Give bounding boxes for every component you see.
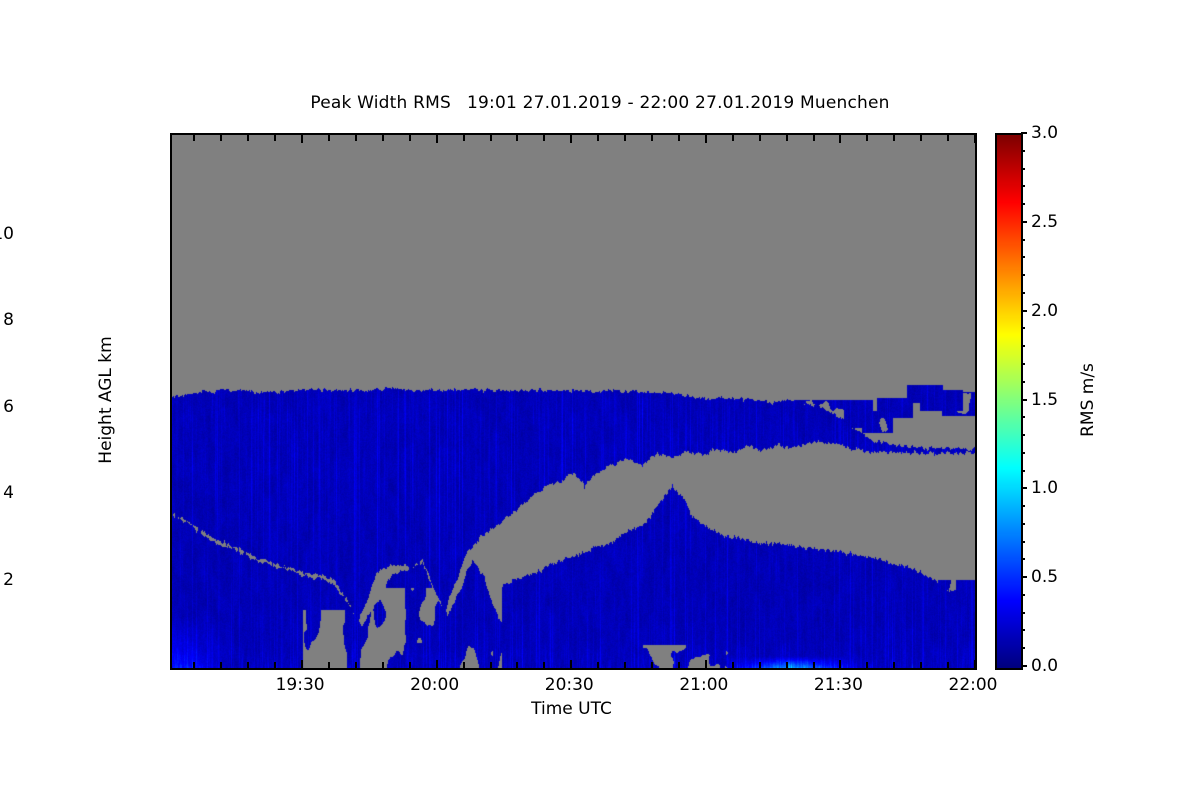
x-axis-minor-tick-top [893, 135, 895, 141]
x-axis-tick-label: 19:30 [276, 675, 325, 695]
y-axis-major-tick-right [975, 321, 977, 323]
y-axis-tick-label: 8 [3, 310, 14, 330]
colorbar-minor-tick [1021, 647, 1025, 649]
colorbar-minor-tick [1021, 558, 1025, 560]
x-axis-tick-label: 22:00 [949, 675, 998, 695]
y-axis-major-tick-right [975, 408, 977, 410]
colorbar-minor-tick [1021, 452, 1025, 454]
x-axis-minor-tick-top [516, 135, 518, 141]
x-axis-minor-tick [355, 662, 357, 668]
x-axis-minor-tick-top [409, 135, 411, 141]
y-axis-minor-tick-right [975, 624, 977, 626]
x-axis-minor-tick [274, 662, 276, 668]
x-axis-major-tick [974, 660, 976, 668]
colorbar-minor-tick [1021, 541, 1025, 543]
y-axis-tick-label: 6 [3, 397, 14, 417]
y-axis-minor-tick-right [975, 148, 977, 150]
colorbar-minor-tick [1021, 292, 1025, 294]
x-axis-minor-tick [328, 662, 330, 668]
x-axis-minor-tick [651, 662, 653, 668]
x-axis-minor-tick [409, 662, 411, 668]
x-axis-major-tick-top [974, 135, 976, 143]
colorbar-major-tick [1021, 399, 1027, 401]
x-axis-major-tick [436, 660, 438, 668]
title-time-range: 19:01 27.01.2019 - 22:00 27.01.2019 [467, 93, 794, 113]
x-axis-minor-tick-top [490, 135, 492, 141]
x-axis-minor-tick-top [355, 135, 357, 141]
y-axis-minor-tick-right [975, 364, 977, 366]
colorbar-minor-tick [1021, 363, 1025, 365]
x-axis-major-tick [301, 660, 303, 668]
x-axis-minor-tick-top [247, 135, 249, 141]
x-axis-minor-tick [624, 662, 626, 668]
colorbar-minor-tick [1021, 434, 1025, 436]
x-axis-minor-tick [947, 662, 949, 668]
chart-figure: Peak Width RMS19:01 27.01.2019 - 22:00 2… [0, 0, 1200, 800]
y-axis-major-tick-right [975, 494, 977, 496]
y-axis-minor-tick [170, 191, 172, 193]
x-axis-tick-label: 21:30 [814, 675, 863, 695]
y-axis-tick-label: 2 [3, 570, 14, 590]
x-axis-minor-tick-top [678, 135, 680, 141]
x-axis-minor-tick-top [759, 135, 761, 141]
colorbar-tick-label: 3.0 [1031, 123, 1058, 143]
colorbar-tick-label: 1.0 [1031, 478, 1058, 498]
colorbar-major-tick [1021, 487, 1027, 489]
y-axis-major-tick [170, 408, 172, 410]
x-axis-minor-tick [463, 662, 465, 668]
colorbar-minor-tick [1021, 629, 1025, 631]
x-axis-minor-tick [866, 662, 868, 668]
y-axis-minor-tick [170, 451, 172, 453]
y-axis-minor-tick [170, 624, 172, 626]
y-axis-minor-tick-right [975, 537, 977, 539]
x-axis-minor-tick [597, 662, 599, 668]
x-axis-major-tick-top [436, 135, 438, 143]
y-axis-minor-tick [170, 148, 172, 150]
x-axis-major-tick-top [301, 135, 303, 143]
x-axis-minor-tick-top [732, 135, 734, 141]
y-axis-major-tick [170, 321, 172, 323]
x-axis-major-tick-top [705, 135, 707, 143]
x-axis-minor-tick-top [543, 135, 545, 141]
title-station: Muenchen [800, 93, 890, 113]
x-axis-minor-tick-top [193, 135, 195, 141]
x-axis-major-tick-top [839, 135, 841, 143]
colorbar-title: RMS m/s [1078, 363, 1098, 437]
x-axis-minor-tick [490, 662, 492, 668]
colorbar-minor-tick [1021, 523, 1025, 525]
colorbar-minor-tick [1021, 239, 1025, 241]
x-axis-major-tick [839, 660, 841, 668]
x-axis-minor-tick [786, 662, 788, 668]
x-axis-minor-tick-top [920, 135, 922, 141]
y-axis-tick-label: 10 [0, 224, 14, 244]
colorbar-tick-label: 0.5 [1031, 567, 1058, 587]
x-axis-minor-tick-top [651, 135, 653, 141]
colorbar-tick-label: 2.0 [1031, 301, 1058, 321]
x-axis-tick-label: 21:00 [679, 675, 728, 695]
colorbar-minor-tick [1021, 203, 1025, 205]
x-axis-minor-tick-top [866, 135, 868, 141]
x-axis-minor-tick-top [624, 135, 626, 141]
x-axis-minor-tick [516, 662, 518, 668]
y-axis-major-tick-right [975, 581, 977, 583]
colorbar-major-tick [1021, 665, 1027, 667]
x-axis-minor-tick [382, 662, 384, 668]
colorbar-minor-tick [1021, 256, 1025, 258]
y-axis-major-tick [170, 581, 172, 583]
x-axis-tick-label: 20:30 [545, 675, 594, 695]
y-axis-minor-tick [170, 364, 172, 366]
x-axis-minor-tick [920, 662, 922, 668]
x-axis-minor-tick [759, 662, 761, 668]
x-axis-minor-tick [247, 662, 249, 668]
x-axis-major-tick [705, 660, 707, 668]
heatmap-canvas [172, 135, 975, 668]
colorbar-minor-tick [1021, 185, 1025, 187]
colorbar-minor-tick [1021, 594, 1025, 596]
colorbar-minor-tick [1021, 381, 1025, 383]
x-axis-minor-tick [893, 662, 895, 668]
colorbar-minor-tick [1021, 274, 1025, 276]
x-axis-minor-tick [543, 662, 545, 668]
y-axis-major-tick [170, 494, 172, 496]
y-axis-major-tick-right [975, 235, 977, 237]
colorbar-gradient [997, 135, 1021, 668]
x-axis-minor-tick-top [463, 135, 465, 141]
y-axis-minor-tick-right [975, 451, 977, 453]
x-axis-minor-tick-top [220, 135, 222, 141]
colorbar-tick-label: 0.0 [1031, 656, 1058, 676]
x-axis-minor-tick [732, 662, 734, 668]
x-axis-minor-tick-top [382, 135, 384, 141]
colorbar-minor-tick [1021, 327, 1025, 329]
colorbar-tick-label: 2.5 [1031, 212, 1058, 232]
y-axis-minor-tick [170, 537, 172, 539]
colorbar [995, 133, 1023, 670]
colorbar-minor-tick [1021, 612, 1025, 614]
x-axis-minor-tick-top [786, 135, 788, 141]
x-axis-minor-tick [813, 662, 815, 668]
y-axis-minor-tick [170, 278, 172, 280]
colorbar-major-tick [1021, 221, 1027, 223]
colorbar-tick-label: 1.5 [1031, 390, 1058, 410]
x-axis-minor-tick-top [813, 135, 815, 141]
x-axis-major-tick [570, 660, 572, 668]
colorbar-minor-tick [1021, 168, 1025, 170]
x-axis-major-tick-top [570, 135, 572, 143]
title-variable: Peak Width RMS [310, 93, 451, 113]
x-axis-title: Time UTC [0, 699, 1143, 719]
x-axis-tick-label: 20:00 [410, 675, 459, 695]
x-axis-minor-tick-top [328, 135, 330, 141]
x-axis-minor-tick [678, 662, 680, 668]
y-axis-major-tick [170, 235, 172, 237]
x-axis-minor-tick-top [274, 135, 276, 141]
colorbar-minor-tick [1021, 416, 1025, 418]
colorbar-minor-tick [1021, 505, 1025, 507]
chart-title: Peak Width RMS19:01 27.01.2019 - 22:00 2… [0, 93, 1200, 113]
colorbar-minor-tick [1021, 470, 1025, 472]
colorbar-minor-tick [1021, 345, 1025, 347]
y-axis-title: Height AGL km [96, 336, 116, 463]
colorbar-major-tick [1021, 576, 1027, 578]
colorbar-major-tick [1021, 132, 1027, 134]
colorbar-major-tick [1021, 310, 1027, 312]
x-axis-minor-tick [220, 662, 222, 668]
x-axis-minor-tick [193, 662, 195, 668]
y-axis-minor-tick-right [975, 278, 977, 280]
y-axis-minor-tick-right [975, 191, 977, 193]
y-axis-tick-label: 4 [3, 483, 14, 503]
x-axis-minor-tick-top [597, 135, 599, 141]
x-axis-minor-tick-top [947, 135, 949, 141]
colorbar-minor-tick [1021, 150, 1025, 152]
plot-area [170, 133, 977, 670]
